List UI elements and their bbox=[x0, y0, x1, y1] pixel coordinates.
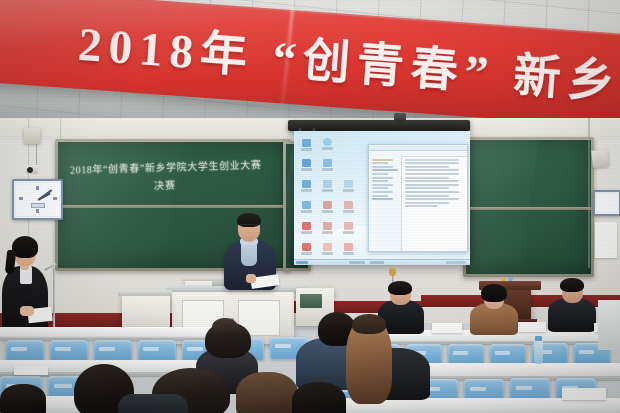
desk-documents bbox=[432, 323, 462, 333]
wall-speaker-right bbox=[591, 149, 609, 168]
explorer-tree-pane[interactable] bbox=[369, 155, 402, 251]
file-row[interactable] bbox=[405, 184, 459, 186]
cctv-camera-left bbox=[26, 165, 38, 174]
chalk-line-1: 2018年“创青春”新乡学院大学生创业大赛 bbox=[70, 156, 262, 176]
clock-date-window bbox=[31, 203, 45, 208]
desktop-icon-pdf-icon[interactable] bbox=[302, 222, 311, 234]
taskbar-tray[interactable] bbox=[446, 261, 466, 264]
file-row[interactable] bbox=[405, 169, 459, 171]
audience-hair-bun bbox=[212, 318, 238, 336]
lecture-seat[interactable] bbox=[50, 340, 88, 362]
lecture-hall-photo: 2018年 “创青春” 新乡 2018年“创青春”新乡学院大学生创业大赛 决赛 bbox=[0, 0, 620, 413]
desktop-icon-archive-icon[interactable] bbox=[323, 222, 332, 234]
wall-clock bbox=[12, 179, 63, 220]
chalk-line-2: 决赛 bbox=[154, 177, 176, 193]
desktop-icon-document-icon[interactable] bbox=[302, 201, 311, 213]
clock-tick bbox=[36, 186, 39, 190]
tree-item[interactable] bbox=[372, 173, 388, 175]
desktop-icon-media-icon[interactable] bbox=[323, 159, 332, 171]
desktop-icon-document-icon[interactable] bbox=[302, 159, 311, 171]
file-row[interactable] bbox=[405, 177, 449, 179]
explorer-file-list[interactable] bbox=[402, 155, 467, 251]
windows-taskbar[interactable] bbox=[294, 259, 470, 265]
desktop-icon-app-icon[interactable] bbox=[323, 243, 332, 255]
tree-item[interactable] bbox=[372, 162, 388, 164]
lecture-seat[interactable] bbox=[94, 340, 132, 362]
projector-screen-roller-cap bbox=[394, 113, 406, 122]
projection-screen bbox=[294, 131, 470, 265]
file-row[interactable] bbox=[405, 162, 459, 164]
blackboard-divider bbox=[466, 207, 591, 210]
clock-tick bbox=[19, 197, 23, 200]
file-row[interactable] bbox=[405, 173, 459, 175]
tree-item[interactable] bbox=[372, 180, 388, 182]
aisle-side-panel bbox=[598, 300, 620, 350]
file-row[interactable] bbox=[405, 159, 459, 161]
speaker-cable bbox=[36, 144, 37, 166]
lectern-indicator-light bbox=[501, 277, 506, 281]
wall-poster-right bbox=[595, 222, 617, 258]
tree-item[interactable] bbox=[372, 177, 393, 179]
clock-tick bbox=[36, 209, 39, 213]
tree-item[interactable] bbox=[372, 195, 388, 197]
host-hair bbox=[12, 236, 38, 258]
judge-right bbox=[548, 298, 596, 332]
audience-foreground-shoulder bbox=[118, 394, 188, 413]
notice-face bbox=[597, 194, 617, 212]
blackboard-surface bbox=[466, 140, 591, 274]
file-row[interactable] bbox=[405, 166, 449, 168]
file-row[interactable] bbox=[405, 205, 438, 207]
lecture-seat[interactable] bbox=[138, 340, 176, 362]
judge-left-hair bbox=[388, 281, 412, 295]
presenter-hand bbox=[246, 274, 256, 283]
host-hands bbox=[20, 306, 34, 316]
desktop-icon-app-icon[interactable] bbox=[323, 180, 332, 192]
camera-lens bbox=[27, 167, 33, 173]
taskbar-item[interactable] bbox=[349, 261, 365, 264]
wall-speaker-left bbox=[24, 128, 40, 144]
water-bottle[interactable] bbox=[534, 340, 543, 364]
desktop-icon-folder-icon[interactable] bbox=[302, 180, 311, 192]
tree-item[interactable] bbox=[372, 184, 393, 186]
microphone-stand bbox=[53, 268, 55, 330]
judge-right-hair bbox=[560, 278, 584, 292]
tree-item[interactable] bbox=[372, 187, 388, 189]
file-explorer-window[interactable] bbox=[368, 144, 468, 252]
tree-item[interactable] bbox=[372, 198, 393, 200]
tree-item[interactable] bbox=[372, 191, 393, 193]
desktop-icon-browser-icon[interactable] bbox=[323, 138, 332, 150]
judge-center-hair bbox=[481, 284, 507, 302]
taskbar-start-button[interactable] bbox=[296, 261, 308, 264]
desk-documents bbox=[562, 388, 606, 400]
presenter-glasses bbox=[240, 224, 258, 229]
desk-documents bbox=[14, 366, 48, 375]
lectern-indicator-light bbox=[508, 277, 513, 281]
tree-item[interactable] bbox=[372, 166, 393, 168]
file-row[interactable] bbox=[405, 198, 459, 200]
desktop-icon-app-icon[interactable] bbox=[323, 201, 332, 213]
audience-hair-top bbox=[352, 314, 386, 334]
stage-mic-head bbox=[389, 268, 396, 276]
bottle-cap bbox=[535, 336, 542, 341]
desktop-icon-pdf-icon[interactable] bbox=[344, 243, 353, 255]
lecture-seat[interactable] bbox=[6, 340, 44, 362]
clock-face bbox=[16, 183, 59, 216]
wall-corner-right bbox=[588, 118, 590, 268]
audience-foreground bbox=[0, 384, 46, 413]
projector-screen-housing bbox=[288, 120, 470, 131]
file-row[interactable] bbox=[405, 202, 449, 204]
audience-foreground bbox=[292, 382, 346, 413]
tree-item[interactable] bbox=[372, 169, 398, 171]
console-side-top bbox=[118, 290, 172, 296]
tree-item[interactable] bbox=[372, 159, 393, 161]
audience-foreground-long-hair bbox=[236, 372, 298, 413]
desktop-icon-app-icon[interactable] bbox=[344, 222, 353, 234]
file-row[interactable] bbox=[405, 187, 449, 189]
desktop-icon-document-icon[interactable] bbox=[302, 243, 311, 255]
desk-documents bbox=[518, 322, 546, 332]
taskbar-item[interactable] bbox=[370, 261, 384, 264]
clock-tick bbox=[53, 197, 57, 200]
file-row[interactable] bbox=[405, 180, 459, 182]
wall-notice-right bbox=[593, 190, 620, 216]
file-row[interactable] bbox=[405, 191, 459, 193]
console-display[interactable] bbox=[300, 294, 322, 308]
desktop-icon-folder-icon[interactable] bbox=[302, 139, 311, 151]
desktop-icon-media-icon[interactable] bbox=[344, 180, 353, 192]
file-row[interactable] bbox=[405, 195, 449, 197]
blackboard-right bbox=[463, 137, 594, 277]
desktop-icon-app-icon[interactable] bbox=[344, 201, 353, 213]
blackboard-divider bbox=[58, 205, 288, 208]
